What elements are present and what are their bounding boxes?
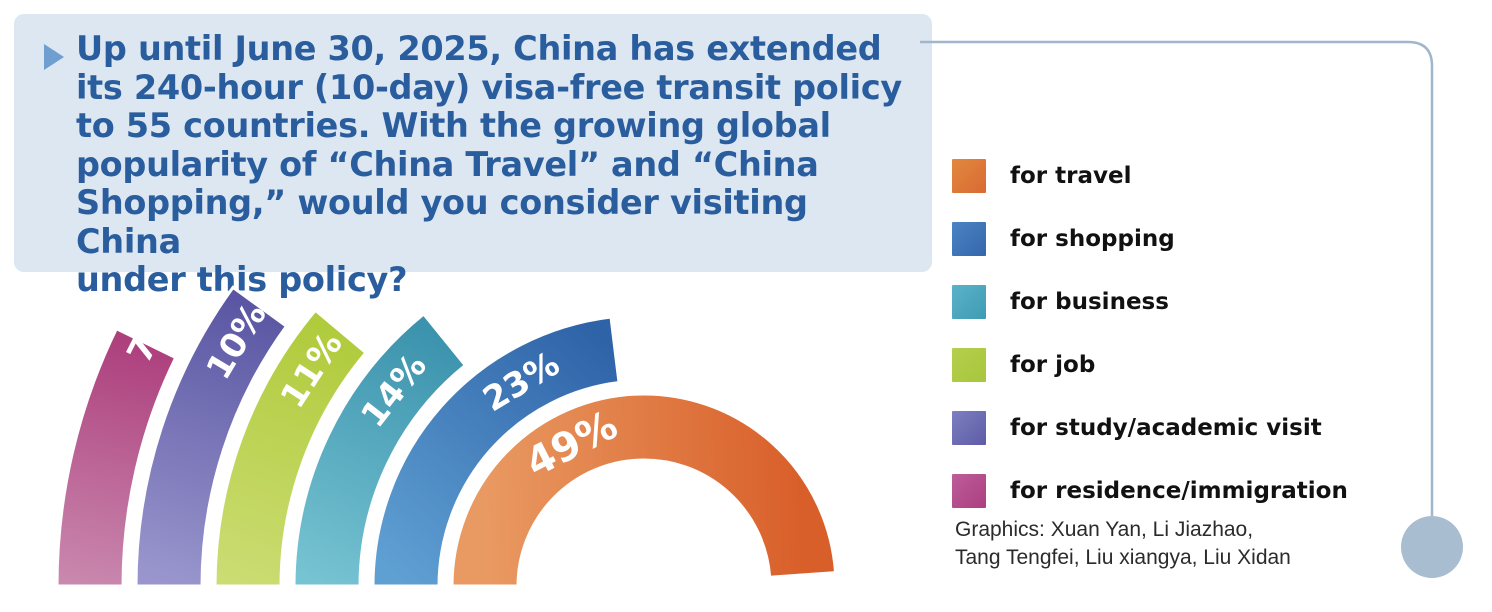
- credits-text: Graphics: Xuan Yan, Li Jiazhao, Tang Ten…: [955, 516, 1385, 571]
- legend-item-shopping[interactable]: for shopping: [952, 207, 1382, 270]
- triangle-right-icon: [44, 44, 64, 70]
- question-callout: Up until June 30, 2025, China has extend…: [14, 14, 932, 272]
- legend-label-residence: for residence/immigration: [1010, 478, 1348, 504]
- legend-swatch-shopping: [952, 222, 986, 256]
- question-text: Up until June 30, 2025, China has extend…: [76, 30, 914, 300]
- legend-swatch-business: [952, 285, 986, 319]
- legend: for travel for shopping for business for…: [952, 144, 1382, 522]
- legend-label-travel: for travel: [1010, 163, 1132, 189]
- legend-swatch-residence: [952, 474, 986, 508]
- legend-item-job[interactable]: for job: [952, 333, 1382, 396]
- legend-item-travel[interactable]: for travel: [952, 144, 1382, 207]
- infographic-page: Up until June 30, 2025, China has extend…: [0, 0, 1492, 612]
- legend-item-residence[interactable]: for residence/immigration: [952, 459, 1382, 522]
- arc-chart: 49%23%14%11%10%7%: [0, 268, 900, 612]
- legend-swatch-travel: [952, 159, 986, 193]
- legend-item-study[interactable]: for study/academic visit: [952, 396, 1382, 459]
- legend-label-job: for job: [1010, 352, 1095, 378]
- legend-item-business[interactable]: for business: [952, 270, 1382, 333]
- legend-swatch-job: [952, 348, 986, 382]
- legend-label-shopping: for shopping: [1010, 226, 1175, 252]
- connector-dot: [1401, 516, 1463, 578]
- legend-label-business: for business: [1010, 289, 1169, 315]
- legend-swatch-study: [952, 411, 986, 445]
- legend-label-study: for study/academic visit: [1010, 415, 1322, 441]
